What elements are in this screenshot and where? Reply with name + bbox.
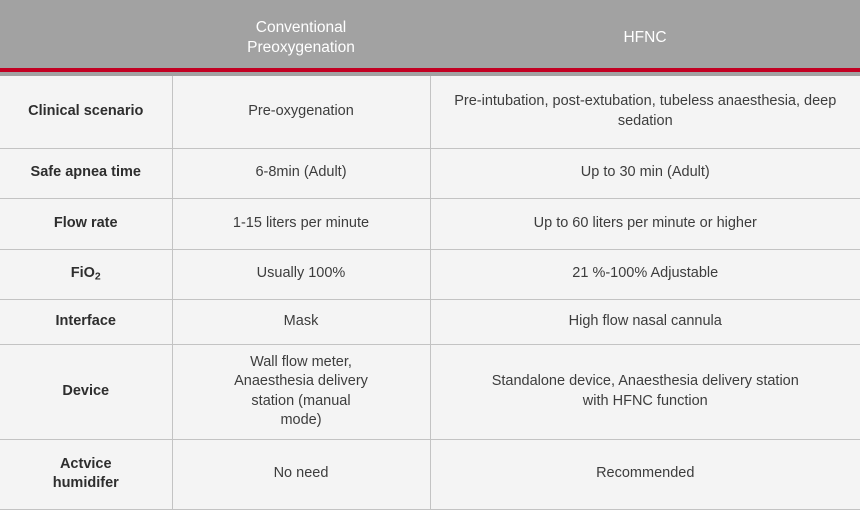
cell-conventional-device: Wall flow meter, Anaesthesia delivery st… <box>172 344 430 439</box>
cell-hfnc-interface: High flow nasal cannula <box>430 299 860 344</box>
row-label-fio2-base: FiO <box>71 265 95 281</box>
row-label-actvice-line2: humidifer <box>53 475 119 491</box>
header-cell-hfnc: HFNC <box>430 0 860 76</box>
table-body: Clinical scenario Pre-oxygenation Pre-in… <box>0 76 860 509</box>
cell-hfnc-fio2: 21 %-100% Adjustable <box>430 249 860 299</box>
header-accent-rule <box>0 68 860 72</box>
cell-conventional-flow-rate: 1-15 liters per minute <box>172 198 430 249</box>
table-header: Conventional Preoxygenation HFNC <box>0 0 860 76</box>
cell-conventional-clinical-scenario: Pre-oxygenation <box>172 76 430 148</box>
header-cell-blank <box>0 0 172 76</box>
table-row: Interface Mask High flow nasal cannula <box>0 299 860 344</box>
table-row: Clinical scenario Pre-oxygenation Pre-in… <box>0 76 860 148</box>
table-row: FiO2 Usually 100% 21 %-100% Adjustable <box>0 249 860 299</box>
cell-hfnc-actvice-humidifer: Recommended <box>430 439 860 509</box>
row-label-device: Device <box>0 344 172 439</box>
table-row: Device Wall flow meter, Anaesthesia deli… <box>0 344 860 439</box>
header-cell-conventional: Conventional Preoxygenation <box>172 0 430 76</box>
row-label-actvice-humidifer: Actvicehumidifer <box>0 439 172 509</box>
table-row: Safe apnea time 6-8min (Adult) Up to 30 … <box>0 148 860 198</box>
comparison-table-container: Conventional Preoxygenation HFNC Clinica… <box>0 0 860 514</box>
cell-hfnc-clinical-scenario: Pre-intubation, post-extubation, tubeles… <box>430 76 860 148</box>
header-label-hfnc: HFNC <box>623 29 666 46</box>
cell-hfnc-flow-rate: Up to 60 liters per minute or higher <box>430 198 860 249</box>
table-header-row: Conventional Preoxygenation HFNC <box>0 0 860 76</box>
header-label-conventional-line1: Conventional <box>256 19 346 36</box>
comparison-table: Conventional Preoxygenation HFNC Clinica… <box>0 0 860 510</box>
cell-hfnc-safe-apnea-time: Up to 30 min (Adult) <box>430 148 860 198</box>
row-label-clinical-scenario: Clinical scenario <box>0 76 172 148</box>
row-label-fio2: FiO2 <box>0 249 172 299</box>
header-label-conventional-line2: Preoxygenation <box>247 39 355 56</box>
table-row: Flow rate 1-15 liters per minute Up to 6… <box>0 198 860 249</box>
row-label-actvice-line1: Actvice <box>60 456 112 472</box>
row-label-fio2-subscript: 2 <box>95 271 101 282</box>
row-label-safe-apnea-time: Safe apnea time <box>0 148 172 198</box>
cell-hfnc-device: Standalone device, Anaesthesia delivery … <box>430 344 860 439</box>
row-label-flow-rate: Flow rate <box>0 198 172 249</box>
cell-conventional-fio2: Usually 100% <box>172 249 430 299</box>
cell-conventional-actvice-humidifer: No need <box>172 439 430 509</box>
cell-conventional-interface: Mask <box>172 299 430 344</box>
row-label-interface: Interface <box>0 299 172 344</box>
cell-conventional-safe-apnea-time: 6-8min (Adult) <box>172 148 430 198</box>
table-row: Actvicehumidifer No need Recommended <box>0 439 860 509</box>
